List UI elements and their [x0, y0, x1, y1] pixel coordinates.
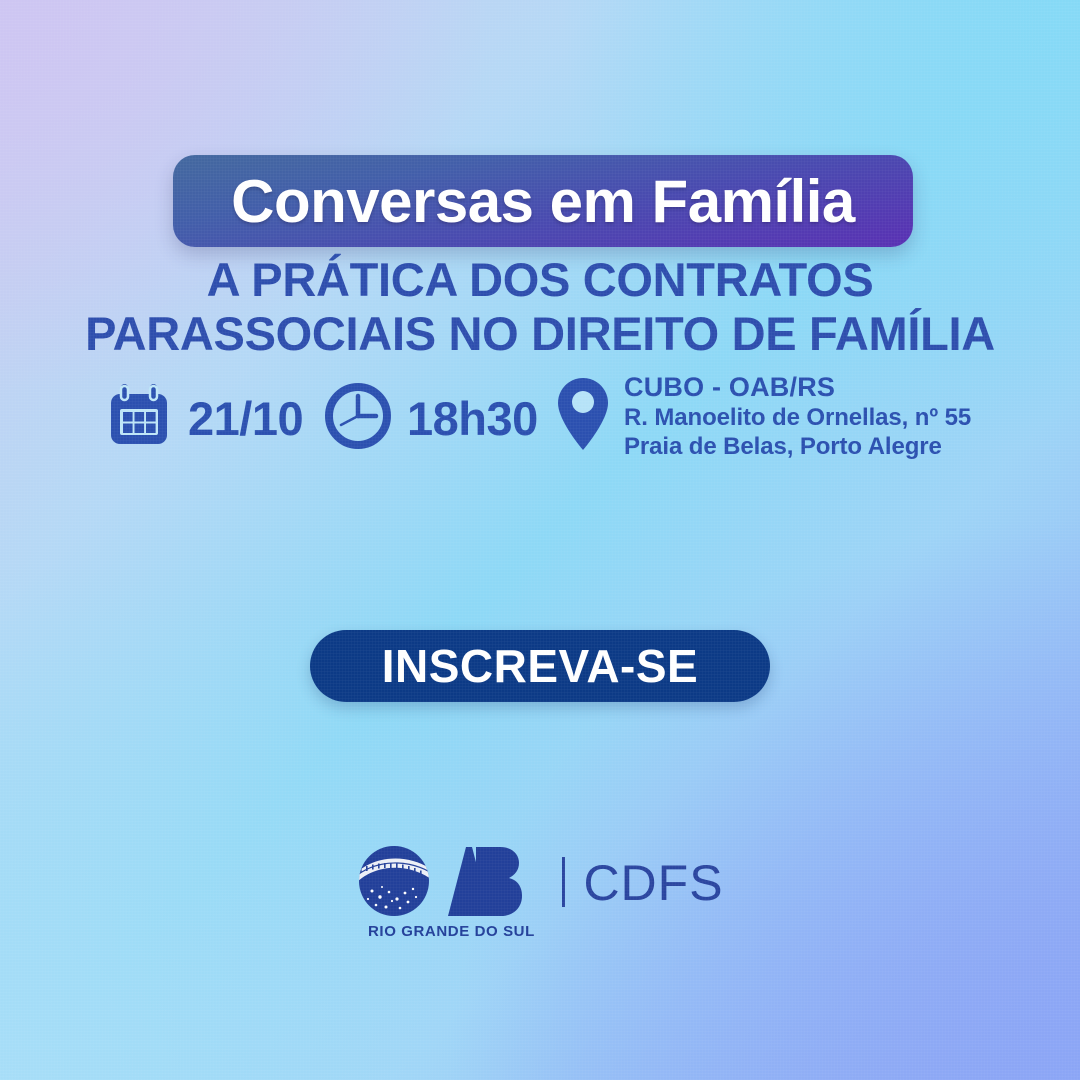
footer-logo: RIO GRANDE DO SUL CDFS	[0, 845, 1080, 941]
map-pin-icon	[555, 372, 611, 461]
oab-logo-state: RIO GRANDE DO SUL	[356, 923, 546, 940]
subtitle-line-2: PARASSOCIAIS NO DIREITO DE FAMÍLIA	[0, 307, 1080, 361]
event-time-value: 18h30	[407, 391, 538, 446]
page-title: Conversas em Família	[231, 167, 855, 236]
event-date-item: 21/10	[103, 380, 303, 457]
event-date-value: 21/10	[188, 391, 303, 446]
clock-icon	[322, 380, 394, 457]
subtitle-line-1: A PRÁTICA DOS CONTRATOS	[0, 253, 1080, 307]
venue-address-line-1: R. Manoelito de Ornellas, nº 55	[624, 403, 971, 432]
logo-divider	[562, 857, 565, 907]
event-poster: Conversas em Família A PRÁTICA DOS CONTR…	[0, 0, 1080, 1080]
event-location-item: CUBO - OAB/RS R. Manoelito de Ornellas, …	[555, 372, 971, 461]
event-details-row: 21/10 18h30 CUBO	[100, 372, 1030, 464]
event-time-item: 18h30	[322, 380, 538, 457]
venue-address-line-2: Praia de Belas, Porto Alegre	[624, 432, 971, 461]
event-location-text: CUBO - OAB/RS R. Manoelito de Ornellas, …	[624, 372, 971, 461]
title-badge: Conversas em Família	[173, 155, 913, 247]
logo-department: CDFS	[583, 854, 723, 912]
calendar-icon	[103, 380, 175, 457]
oab-logo-mark: RIO GRANDE DO SUL	[356, 845, 546, 941]
inscreva-se-button[interactable]: INSCREVA-SE	[310, 630, 770, 702]
subtitle: A PRÁTICA DOS CONTRATOS PARASSOCIAIS NO …	[0, 253, 1080, 361]
venue-name: CUBO - OAB/RS	[624, 372, 971, 403]
